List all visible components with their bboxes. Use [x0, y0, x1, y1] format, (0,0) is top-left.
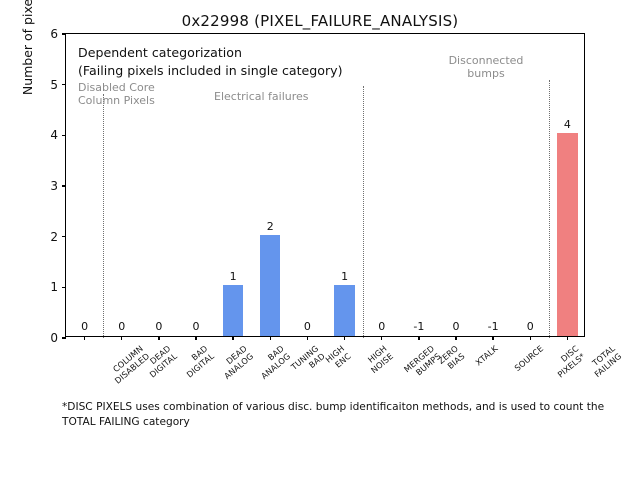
x-tick-label: ZEROBIAS [436, 344, 466, 374]
x-tick-mark [530, 336, 531, 340]
x-tick-mark [418, 336, 419, 340]
plot-area: Number of pixels 0123456 000012010-10-10… [65, 33, 585, 337]
bar-value-label: 1 [341, 270, 348, 283]
x-tick-label: MERGEDBUMPS [402, 344, 442, 382]
bar-value-label: 2 [267, 220, 274, 233]
annotation-dependent-line1: Dependent categorization [78, 45, 242, 60]
annotation-dependent-line2: (Failing pixels included in single categ… [78, 63, 343, 78]
x-tick-mark [84, 336, 85, 340]
annotation-disabled-line2: Column Pixels [78, 94, 155, 107]
bar-value-label: 1 [230, 270, 237, 283]
bar-value-label: 0 [527, 320, 534, 333]
x-tick-label: TOTALFAILING [587, 344, 624, 379]
bar-value-label: 0 [193, 320, 200, 333]
y-tick-label: 3 [32, 179, 58, 193]
page-title: 0x22998 (PIXEL_FAILURE_ANALYSIS) [0, 12, 640, 30]
annotation-electrical-failures: Electrical failures [214, 89, 309, 104]
figure-canvas: 0x22998 (PIXEL_FAILURE_ANALYSIS) Number … [0, 0, 640, 480]
bar[interactable] [334, 285, 354, 336]
y-tick-mark [62, 236, 66, 237]
x-tick-mark [195, 336, 196, 340]
y-tick-mark [62, 84, 66, 85]
x-tick-label: BADDIGITAL [178, 344, 215, 380]
x-tick-mark [381, 336, 382, 340]
footnote: *DISC PIXELS uses combination of various… [62, 400, 632, 430]
x-tick-mark [270, 336, 271, 340]
x-tick-label: DEADDIGITAL [141, 344, 178, 380]
x-tick-mark [344, 336, 345, 340]
x-tick-label-line: SOURCE [513, 344, 545, 373]
bar-value-label: 0 [118, 320, 125, 333]
x-tick-label: BADANALOG [253, 344, 292, 381]
y-tick-mark [62, 185, 66, 186]
bar[interactable] [557, 133, 577, 336]
annotation-dependent-categorization: Dependent categorization(Failing pixels … [78, 44, 343, 80]
y-tick-mark [62, 337, 66, 338]
y-tick-mark [62, 135, 66, 136]
bar-value-label: 0 [304, 320, 311, 333]
y-tick-label: 4 [32, 128, 58, 142]
category-divider-line [363, 86, 364, 338]
bar-value-label: 0 [155, 320, 162, 333]
x-tick-label: HIGHNOISE [363, 344, 395, 375]
x-tick-mark [455, 336, 456, 340]
annotation-disconnected-bumps: Disconnectedbumps [421, 54, 551, 80]
y-tick-label: 2 [32, 230, 58, 244]
bar-value-label: -1 [413, 320, 424, 333]
bar-value-label: 0 [378, 320, 385, 333]
x-tick-label: TUNINGBAD [290, 344, 327, 380]
x-tick-label: HIGHENC [324, 344, 353, 372]
category-divider-line [103, 94, 104, 338]
y-tick-label: 6 [32, 27, 58, 41]
y-tick-label: 1 [32, 280, 58, 294]
y-tick-mark [62, 33, 66, 34]
category-divider-line [549, 80, 550, 338]
bar-value-label: -1 [488, 320, 499, 333]
bar[interactable] [260, 235, 280, 336]
annotation-disconnected-line1: Disconnected [449, 54, 524, 67]
x-tick-mark [492, 336, 493, 340]
x-tick-mark [121, 336, 122, 340]
y-tick-label: 0 [32, 331, 58, 345]
x-tick-label: XTALK [474, 344, 500, 368]
bar[interactable] [223, 285, 243, 336]
bar-value-label: 4 [564, 118, 571, 131]
footnote-line1: *DISC PIXELS uses combination of various… [62, 401, 536, 413]
x-tick-label: DISCPIXELS* [550, 344, 587, 380]
y-tick-label: 5 [32, 78, 58, 92]
y-axis-label: Number of pixels [20, 0, 35, 142]
x-tick-label-line: XTALK [474, 344, 500, 368]
x-tick-label: SOURCE [513, 344, 545, 373]
bar-value-label: 0 [81, 320, 88, 333]
x-tick-mark [232, 336, 233, 340]
annotation-disconnected-line2: bumps [467, 67, 504, 80]
x-tick-label: DEADANALOG [216, 344, 255, 381]
y-tick-mark [62, 287, 66, 288]
x-tick-mark [567, 336, 568, 340]
annotation-disabled-core: Disabled CoreColumn Pixels [78, 81, 155, 107]
bar-value-label: 0 [453, 320, 460, 333]
x-tick-mark [158, 336, 159, 340]
x-tick-mark [307, 336, 308, 340]
annotation-disabled-line1: Disabled Core [78, 81, 155, 94]
